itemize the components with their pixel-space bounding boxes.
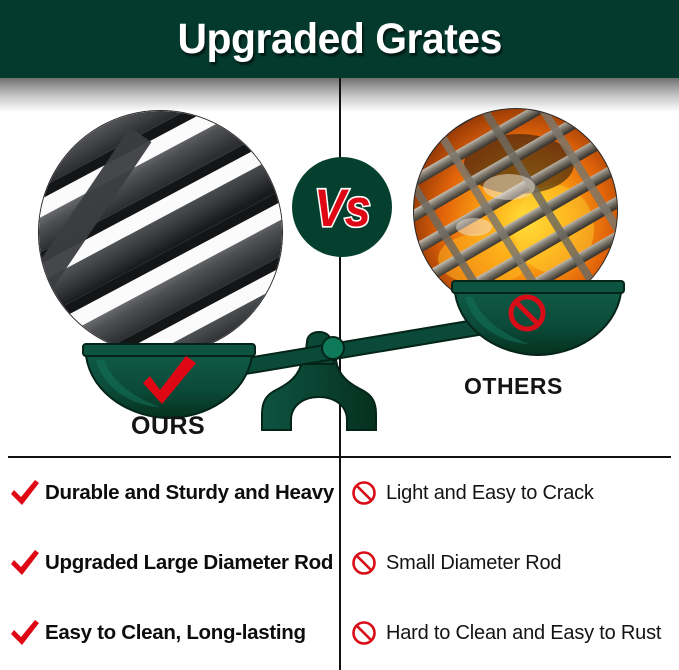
- prohibition-icon: [351, 620, 377, 646]
- prohibition-icon: [351, 480, 377, 506]
- header-banner: Upgraded Grates: [0, 0, 679, 78]
- ours-feature-text: Upgraded Large Diameter Rod: [45, 551, 333, 575]
- ours-feature-text: Durable and Sturdy and Heavy: [45, 481, 334, 505]
- table-row: Easy to Clean, Long-lasting Hard to Clea…: [0, 598, 679, 668]
- check-icon: [10, 479, 40, 507]
- prohibition-icon: [351, 550, 377, 576]
- others-feature-text: Hard to Clean and Easy to Rust: [386, 622, 661, 645]
- ours-pan: [83, 344, 255, 418]
- others-scale-label: OTHERS: [464, 373, 563, 400]
- page-title: Upgraded Grates: [177, 15, 501, 64]
- versus-label: Vs: [314, 176, 370, 238]
- ours-scale-label: OURS: [131, 412, 205, 441]
- others-feature-text: Small Diameter Rod: [386, 552, 561, 575]
- others-cell: Small Diameter Rod: [339, 528, 679, 598]
- infographic-page: Upgraded Grates: [0, 0, 679, 670]
- table-row: Upgraded Large Diameter Rod Small Diamet…: [0, 528, 679, 598]
- check-icon: [10, 619, 40, 647]
- ours-feature-text: Easy to Clean, Long-lasting: [45, 621, 306, 645]
- others-cell: Light and Easy to Crack: [339, 458, 679, 528]
- versus-badge: Vs: [292, 157, 392, 257]
- check-icon: [10, 549, 40, 577]
- balance-scale: [0, 280, 679, 460]
- ours-cell: Easy to Clean, Long-lasting: [0, 598, 339, 668]
- table-row: Durable and Sturdy and Heavy Light and E…: [0, 458, 679, 528]
- others-pan: [452, 281, 624, 355]
- ours-cell: Durable and Sturdy and Heavy: [0, 458, 339, 528]
- others-feature-text: Light and Easy to Crack: [386, 482, 594, 505]
- ours-cell: Upgraded Large Diameter Rod: [0, 528, 339, 598]
- comparison-table: Durable and Sturdy and Heavy Light and E…: [0, 458, 679, 670]
- others-cell: Hard to Clean and Easy to Rust: [339, 598, 679, 668]
